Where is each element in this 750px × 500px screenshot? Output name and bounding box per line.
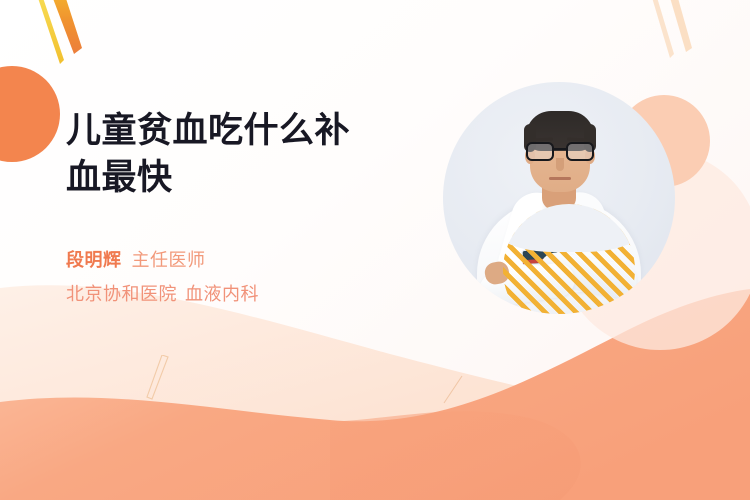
page-title: 儿童贫血吃什么补 血最快 bbox=[66, 108, 416, 201]
doctor-portrait bbox=[443, 82, 675, 314]
striped-half-circle-decoration bbox=[503, 204, 635, 314]
glasses-bridge bbox=[554, 148, 566, 150]
hospital-name: 北京协和医院 bbox=[66, 284, 177, 304]
doctor-title: 主任医师 bbox=[132, 250, 206, 270]
portrait-circle-background bbox=[443, 82, 675, 314]
wave-lobe bbox=[330, 411, 581, 500]
nose bbox=[556, 158, 564, 171]
health-video-card: 儿童贫血吃什么补 血最快 段明辉主任医师 北京协和医院血液内科 bbox=[0, 0, 750, 500]
department-name: 血液内科 bbox=[185, 284, 259, 304]
orange-circle-decoration bbox=[0, 66, 60, 162]
lens-left bbox=[526, 142, 554, 161]
byline-line-affiliation: 北京协和医院血液内科 bbox=[66, 277, 416, 311]
mouth bbox=[549, 177, 571, 180]
diagonal-streak-top-right-icon bbox=[640, 0, 710, 70]
lens-right bbox=[566, 142, 594, 161]
stripe-mask bbox=[503, 204, 635, 252]
doctor-name: 段明辉 bbox=[66, 250, 122, 270]
byline: 段明辉主任医师 北京协和医院血液内科 bbox=[66, 243, 416, 311]
text-block: 儿童贫血吃什么补 血最快 段明辉主任医师 北京协和医院血液内科 bbox=[66, 108, 416, 311]
byline-line-doctor: 段明辉主任医师 bbox=[66, 243, 416, 277]
diagonal-streak-top-left-icon bbox=[22, 0, 102, 76]
